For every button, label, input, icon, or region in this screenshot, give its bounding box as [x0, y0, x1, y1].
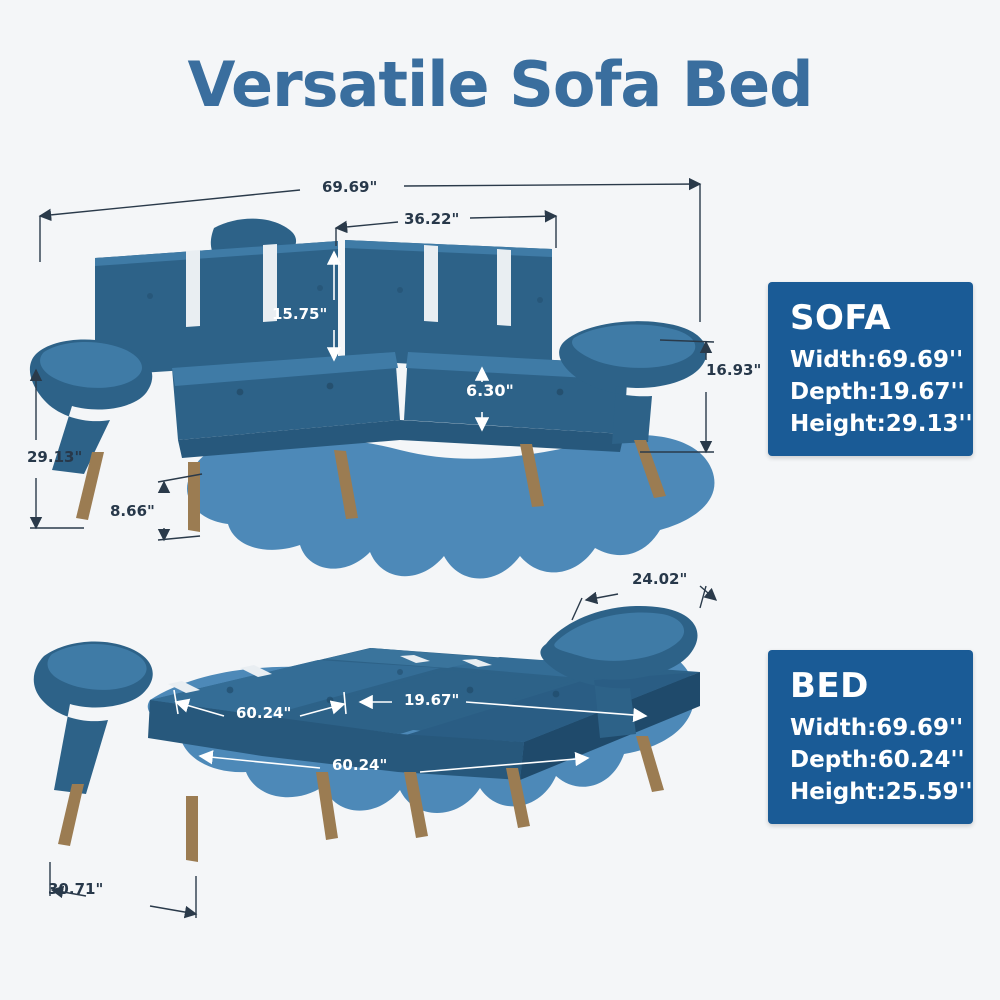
spec-card-sofa-width: Width:69.69'' — [768, 344, 973, 376]
dim-bed-length: 60.24" — [332, 756, 387, 774]
dim-bed-panel-width: 19.67" — [404, 691, 459, 709]
bed-illustration — [34, 606, 700, 862]
spec-card-bed-height: Height:25.59'' — [768, 776, 973, 808]
spec-card-sofa-title: SOFA — [768, 296, 973, 344]
sofa-floor-shadow — [187, 435, 714, 578]
spec-card-sofa: SOFA Width:69.69'' Depth:19.67'' Height:… — [768, 282, 973, 456]
dim-sofa-seat-width: 36.22" — [404, 210, 459, 228]
dim-sofa-total-height: 29.13" — [27, 448, 82, 466]
dim-sofa-leg-height: 8.66" — [110, 502, 155, 520]
dim-bed-half-length: 60.24" — [236, 704, 291, 722]
spec-card-bed: BED Width:69.69'' Depth:60.24'' Height:2… — [768, 650, 973, 824]
dim-sofa-overall-width: 69.69" — [322, 178, 377, 196]
spec-card-sofa-depth: Depth:19.67'' — [768, 376, 973, 408]
dim-sofa-seat-depth: 6.30" — [466, 381, 514, 400]
illustration-canvas — [0, 0, 1000, 1000]
spec-card-bed-width: Width:69.69'' — [768, 712, 973, 744]
product-diagram-page: Versatile Sofa Bed — [0, 0, 1000, 1000]
dim-bed-arm-depth: 24.02" — [632, 570, 687, 588]
dim-sofa-arm-height: 16.93" — [706, 361, 761, 379]
spec-card-sofa-height: Height:29.13'' — [768, 408, 973, 440]
spec-card-bed-depth: Depth:60.24'' — [768, 744, 973, 776]
dim-bed-total-depth: 30.71" — [48, 880, 103, 898]
dim-sofa-backrest-height: 15.75" — [272, 305, 327, 323]
spec-card-bed-title: BED — [768, 664, 973, 712]
